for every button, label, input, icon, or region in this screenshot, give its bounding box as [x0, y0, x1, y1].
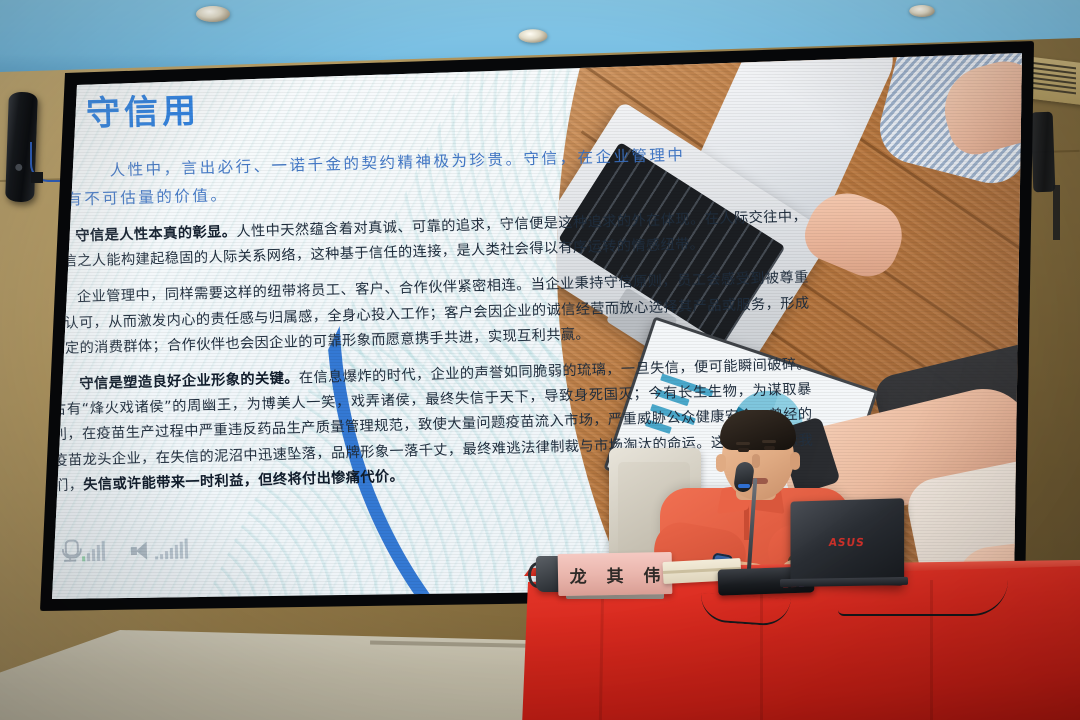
mic-level-bars [82, 541, 106, 562]
paragraph-2-text: 企业管理中，同样需要这样的纽带将员工、客户、合作伙伴紧密相连。当企业秉持守信原则… [50, 270, 810, 357]
downlight-icon [196, 6, 230, 22]
laptop-brand-logo: ASUS [828, 536, 866, 549]
mic-meter-group [62, 539, 106, 562]
microphone-icon [62, 540, 79, 562]
presenter-hair [720, 410, 796, 450]
downlight-icon [519, 29, 548, 43]
speaker-meter-group [131, 539, 189, 561]
nameplate: 龙 其 伟 [558, 552, 673, 596]
scene-root: 守信用 人性中，言出必行、一诺千金的契约精神极为珍贵。守信，在企业管理中具有不可… [0, 0, 1080, 720]
eye-right [764, 446, 775, 450]
ear-left [716, 454, 726, 472]
speaker-icon [131, 542, 151, 561]
right-wall-rail [1053, 185, 1060, 240]
slide-title: 守信用 [85, 83, 200, 135]
microphone-indicator-ring [738, 484, 750, 488]
eye-left [738, 448, 749, 452]
laptop[interactable]: ASUS [791, 498, 905, 586]
downlight-icon [909, 5, 935, 17]
speaker-bracket [31, 172, 43, 183]
eyebrow-left [736, 442, 750, 445]
paragraph-3-tail: 失信或许能带来一时利益，但终将付出惨痛代价。 [83, 468, 404, 493]
ear-right [790, 452, 800, 470]
nameplate-text: 龙 其 伟 [562, 561, 667, 588]
nose [752, 454, 760, 468]
laptop-cable [838, 580, 1008, 616]
right-column-speaker [1031, 112, 1056, 193]
speaker-level-bars [155, 539, 189, 560]
audio-level-overlay [62, 537, 189, 562]
paragraph-3-lead: 守信是塑造良好企业形象的关键。 [79, 370, 299, 392]
paragraph-1-lead: 守信是人性本真的彰显。 [75, 224, 236, 244]
slide-paragraph-2: 企业管理中，同样需要这样的纽带将员工、客户、合作伙伴紧密相连。当企业秉持守信原则… [49, 266, 811, 362]
eyebrow-right [762, 440, 776, 443]
